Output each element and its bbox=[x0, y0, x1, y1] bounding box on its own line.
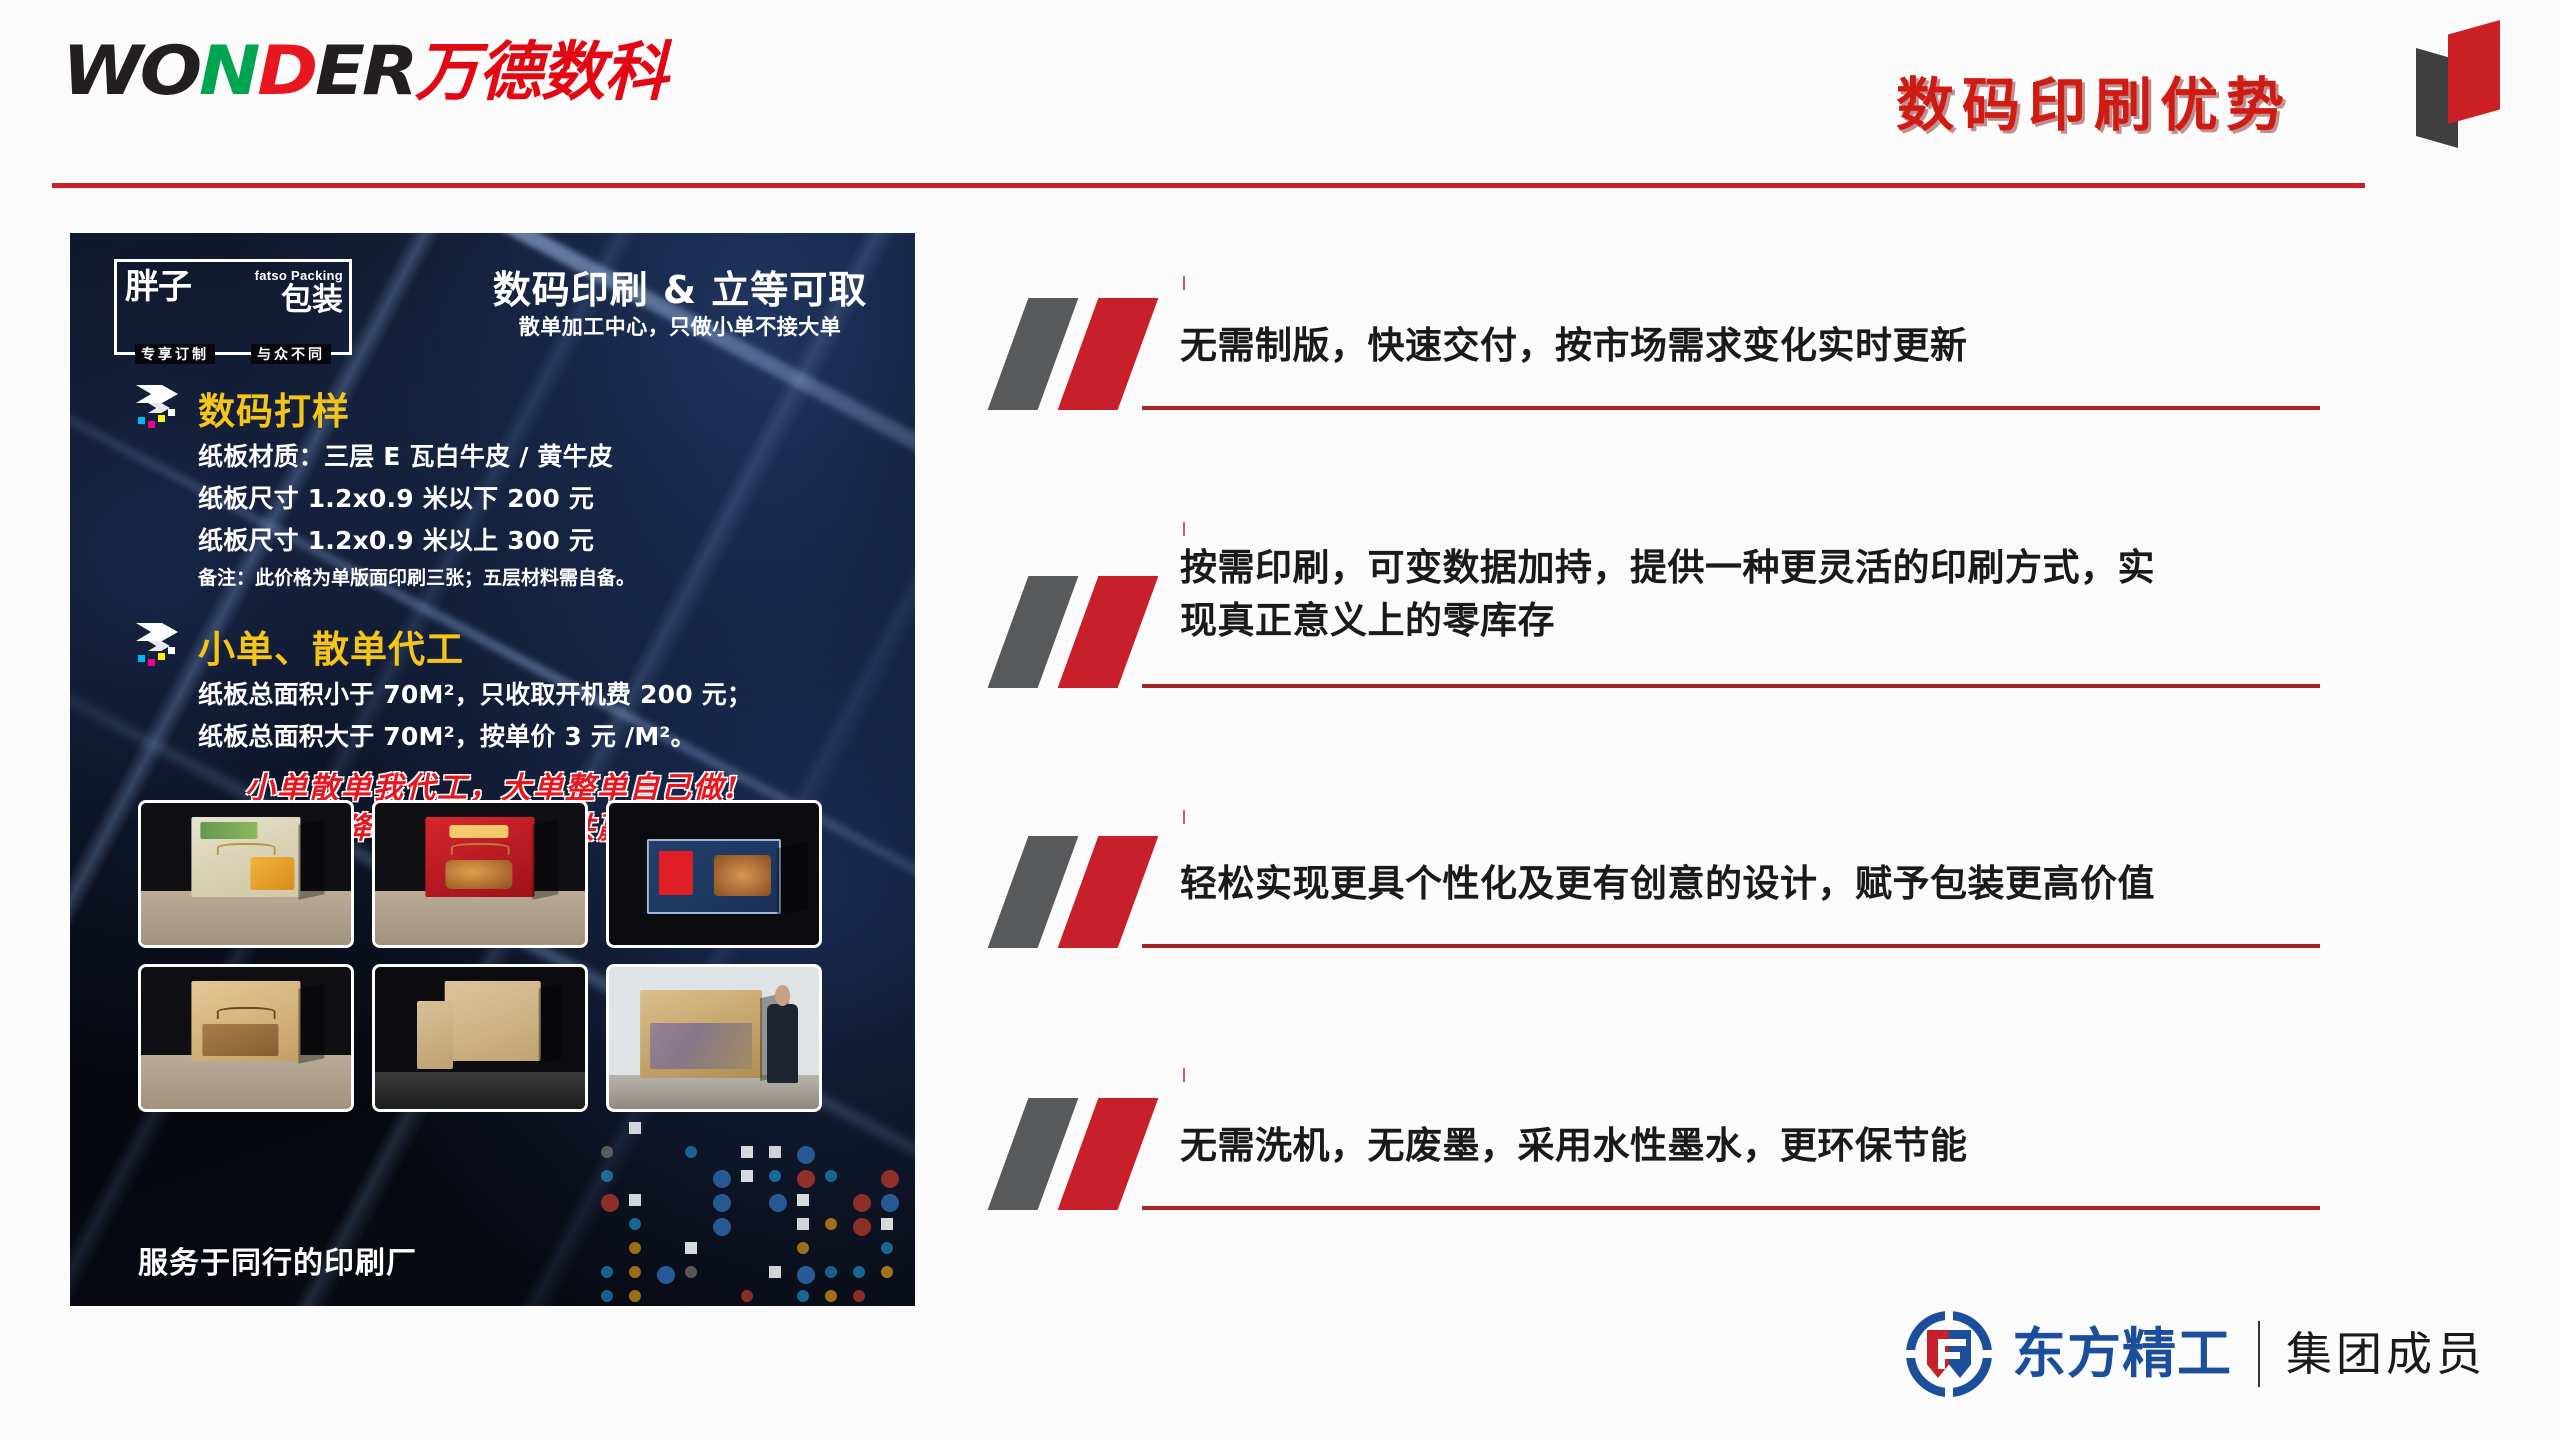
arrow-chevron-small bbox=[148, 403, 170, 413]
cmyk-dot-cyan bbox=[138, 655, 145, 662]
pattern-dot bbox=[629, 1242, 641, 1254]
benefit-item-2: 按需印刷，可变数据加持，提供一种更灵活的印刷方式，实 现真正意义上的零库存 bbox=[1000, 528, 2320, 688]
poster-section-title: 小单、散单代工 bbox=[198, 619, 464, 673]
pattern-square bbox=[881, 1218, 893, 1230]
poster-section-title: 数码打样 bbox=[198, 381, 350, 435]
cmyk-arrow-icon bbox=[132, 621, 190, 677]
logo-ring-gap bbox=[1945, 1307, 1953, 1325]
pattern-dot bbox=[797, 1170, 815, 1188]
poster-footer-text: 服务于同行的印刷厂 bbox=[138, 1238, 417, 1282]
benefit-text-4: 无需洗机，无废墨，采用水性墨水，更环保节能 bbox=[1180, 1120, 2320, 1173]
poster-photo bbox=[138, 800, 354, 948]
wonder-brand-logo: WONDER 万德数科 bbox=[62, 38, 667, 110]
pattern-dot bbox=[601, 1266, 613, 1278]
fatso-logo-cn2: 包装 bbox=[281, 285, 343, 316]
page-title: 数码印刷优势 bbox=[1896, 58, 2292, 142]
fatso-logo-en: fatso Packing bbox=[255, 268, 343, 283]
bullet-tick bbox=[1183, 1068, 1185, 1082]
cmyk-dot-cyan bbox=[138, 417, 145, 424]
cmyk-arrow-icon bbox=[132, 383, 190, 439]
pattern-dot bbox=[881, 1266, 893, 1278]
pattern-dot bbox=[685, 1266, 697, 1278]
benefit-line: 无需制版，快速交付，按市场需求变化实时更新 bbox=[1180, 320, 2320, 373]
poster-section-line: 纸板尺寸 1.2x0.9 米以下 200 元 bbox=[198, 479, 594, 515]
bullet-underline bbox=[1142, 684, 2320, 688]
poster-dot-pattern bbox=[595, 1116, 915, 1306]
pattern-dot bbox=[629, 1266, 641, 1278]
dongfang-group-logo: 东方精工 集团成员 bbox=[1906, 1306, 2486, 1402]
pattern-dot bbox=[825, 1266, 837, 1278]
pattern-dot bbox=[601, 1290, 613, 1302]
benefit-text-3: 轻松实现更具个性化及更有创意的设计，赋予包装更高价值 bbox=[1180, 858, 2320, 911]
benefit-line: 按需印刷，可变数据加持，提供一种更灵活的印刷方式，实 bbox=[1180, 542, 2320, 595]
benefit-item-4: 无需洗机，无废墨，采用水性墨水，更环保节能 bbox=[1000, 1090, 2320, 1210]
pattern-dot bbox=[629, 1290, 641, 1302]
pattern-dot bbox=[881, 1242, 893, 1254]
pattern-dot bbox=[601, 1146, 613, 1158]
bullet-marker bbox=[1000, 298, 1170, 410]
bullet-bar-red bbox=[1058, 298, 1159, 410]
pattern-dot bbox=[741, 1290, 753, 1302]
cmyk-dot-magenta bbox=[148, 421, 155, 428]
pattern-dot bbox=[853, 1290, 865, 1302]
bullet-underline bbox=[1142, 944, 2320, 948]
pattern-dot bbox=[713, 1194, 731, 1212]
header-divider bbox=[52, 183, 2365, 188]
dongfang-member-label: 集团成员 bbox=[2286, 1331, 2486, 1377]
wonder-brand-cn: 万德数科 bbox=[415, 41, 667, 105]
poster-section-line: 纸板总面积小于 70M²，只收取开机费 200 元； bbox=[198, 675, 752, 711]
logo-ring-gap bbox=[1978, 1350, 1996, 1358]
benefit-item-1: 无需制版，快速交付，按市场需求变化实时更新 bbox=[1000, 290, 2320, 410]
fatso-logo-tagline: 专享订制 与众不同 bbox=[117, 344, 349, 364]
benefit-line: 现真正意义上的零库存 bbox=[1180, 595, 2320, 648]
book-fold-icon bbox=[2398, 8, 2508, 154]
cmyk-dot-key bbox=[168, 647, 175, 654]
letter-f-bar-mid bbox=[1944, 1352, 1960, 1359]
arrow-chevron-small bbox=[148, 641, 170, 651]
dongfang-shield-icon bbox=[1906, 1311, 1992, 1397]
page-header: WONDER 万德数科 数码印刷优势 bbox=[0, 0, 2560, 200]
poster-photo bbox=[606, 800, 822, 948]
pattern-square bbox=[797, 1218, 809, 1230]
pattern-dot bbox=[825, 1218, 837, 1230]
pattern-square bbox=[629, 1194, 641, 1206]
bullet-underline bbox=[1142, 406, 2320, 410]
pattern-dot bbox=[769, 1170, 781, 1182]
letter-f-bar-top bbox=[1944, 1339, 1966, 1346]
benefit-item-3: 轻松实现更具个性化及更有创意的设计，赋予包装更高价值 bbox=[1000, 828, 2320, 948]
pattern-square bbox=[741, 1146, 753, 1158]
pattern-square bbox=[629, 1122, 641, 1134]
poster-section-line: 纸板尺寸 1.2x0.9 米以上 300 元 bbox=[198, 521, 594, 557]
bullet-bar-red bbox=[1058, 576, 1159, 688]
pattern-dot bbox=[797, 1266, 815, 1284]
pattern-dot bbox=[853, 1194, 871, 1212]
pattern-square bbox=[797, 1194, 809, 1206]
pattern-dot bbox=[853, 1218, 871, 1236]
benefit-text-2: 按需印刷，可变数据加持，提供一种更灵活的印刷方式，实 现真正意义上的零库存 bbox=[1180, 542, 2320, 647]
pattern-dot bbox=[797, 1290, 809, 1302]
pattern-square bbox=[685, 1242, 697, 1254]
bullet-marker bbox=[1000, 836, 1170, 948]
wonder-wordmark: WONDER bbox=[62, 38, 415, 106]
poster-photo bbox=[372, 800, 588, 948]
book-page-red bbox=[2448, 20, 2500, 124]
pattern-dot bbox=[713, 1170, 731, 1188]
pattern-square bbox=[741, 1170, 753, 1182]
pattern-dot bbox=[601, 1194, 619, 1212]
cmyk-dot-yellow bbox=[158, 415, 165, 422]
pattern-dot bbox=[881, 1170, 899, 1188]
bullet-marker bbox=[1000, 576, 1170, 688]
pattern-dot bbox=[881, 1194, 899, 1212]
poster-photo bbox=[372, 964, 588, 1112]
bullet-tick bbox=[1183, 522, 1185, 536]
bullet-marker bbox=[1000, 1098, 1170, 1210]
promo-poster-image: 胖子 fatso Packing 包装 专享订制 与众不同 数码印刷 & 立等可… bbox=[70, 233, 915, 1306]
pattern-dot bbox=[825, 1290, 837, 1302]
poster-photo-grid bbox=[138, 800, 856, 1112]
poster-photo bbox=[138, 964, 354, 1112]
arrow-chevron-large bbox=[136, 623, 178, 641]
logo-ring-gap bbox=[1902, 1350, 1920, 1358]
footer-divider bbox=[2258, 1321, 2260, 1387]
fatso-packing-logo: 胖子 fatso Packing 包装 专享订制 与众不同 bbox=[114, 259, 352, 355]
pattern-dot bbox=[713, 1218, 731, 1236]
poster-section-line: 纸板材质：三层 E 瓦白牛皮 / 黄牛皮 bbox=[198, 437, 613, 473]
pattern-dot bbox=[601, 1170, 613, 1182]
poster-section-line: 纸板总面积大于 70M²，按单价 3 元 /M²。 bbox=[198, 717, 696, 753]
bullet-tick bbox=[1183, 810, 1185, 824]
bullet-tick bbox=[1183, 276, 1185, 290]
poster-headline: 数码印刷 & 立等可取 bbox=[470, 259, 890, 314]
benefit-line: 无需洗机，无废墨，采用水性墨水，更环保节能 bbox=[1180, 1120, 2320, 1173]
logo-ring-gap bbox=[1945, 1383, 1953, 1401]
fatso-tagline-right: 与众不同 bbox=[251, 344, 331, 364]
pattern-dot bbox=[657, 1266, 675, 1284]
dongfang-company-name: 东方精工 bbox=[2012, 1327, 2232, 1381]
cmyk-dot-yellow bbox=[158, 653, 165, 660]
pattern-dot bbox=[825, 1170, 837, 1182]
bullet-underline bbox=[1142, 1206, 2320, 1210]
cmyk-dot-magenta bbox=[148, 659, 155, 666]
poster-section-note: 备注：此价格为单版面印刷三张；五层材料需自备。 bbox=[198, 563, 635, 590]
poster-photo bbox=[606, 964, 822, 1112]
bullet-bar-red bbox=[1058, 836, 1159, 948]
pattern-square bbox=[769, 1146, 781, 1158]
arrow-chevron-large bbox=[136, 385, 178, 403]
fatso-tagline-left: 专享订制 bbox=[135, 344, 215, 364]
pattern-square bbox=[769, 1266, 781, 1278]
pattern-dot bbox=[685, 1146, 697, 1158]
benefit-text-1: 无需制版，快速交付，按市场需求变化实时更新 bbox=[1180, 320, 2320, 373]
pattern-dot bbox=[629, 1218, 641, 1230]
fatso-logo-cn: 胖子 bbox=[125, 270, 191, 304]
cmyk-dot-key bbox=[168, 409, 175, 416]
poster-subheadline: 散单加工中心，只做小单不接大单 bbox=[470, 311, 890, 341]
pattern-dot bbox=[769, 1194, 787, 1212]
pattern-dot bbox=[797, 1242, 809, 1254]
bullet-bar-red bbox=[1058, 1098, 1159, 1210]
pattern-dot bbox=[797, 1146, 815, 1164]
benefit-line: 轻松实现更具个性化及更有创意的设计，赋予包装更高价值 bbox=[1180, 858, 2320, 911]
pattern-dot bbox=[853, 1266, 865, 1278]
